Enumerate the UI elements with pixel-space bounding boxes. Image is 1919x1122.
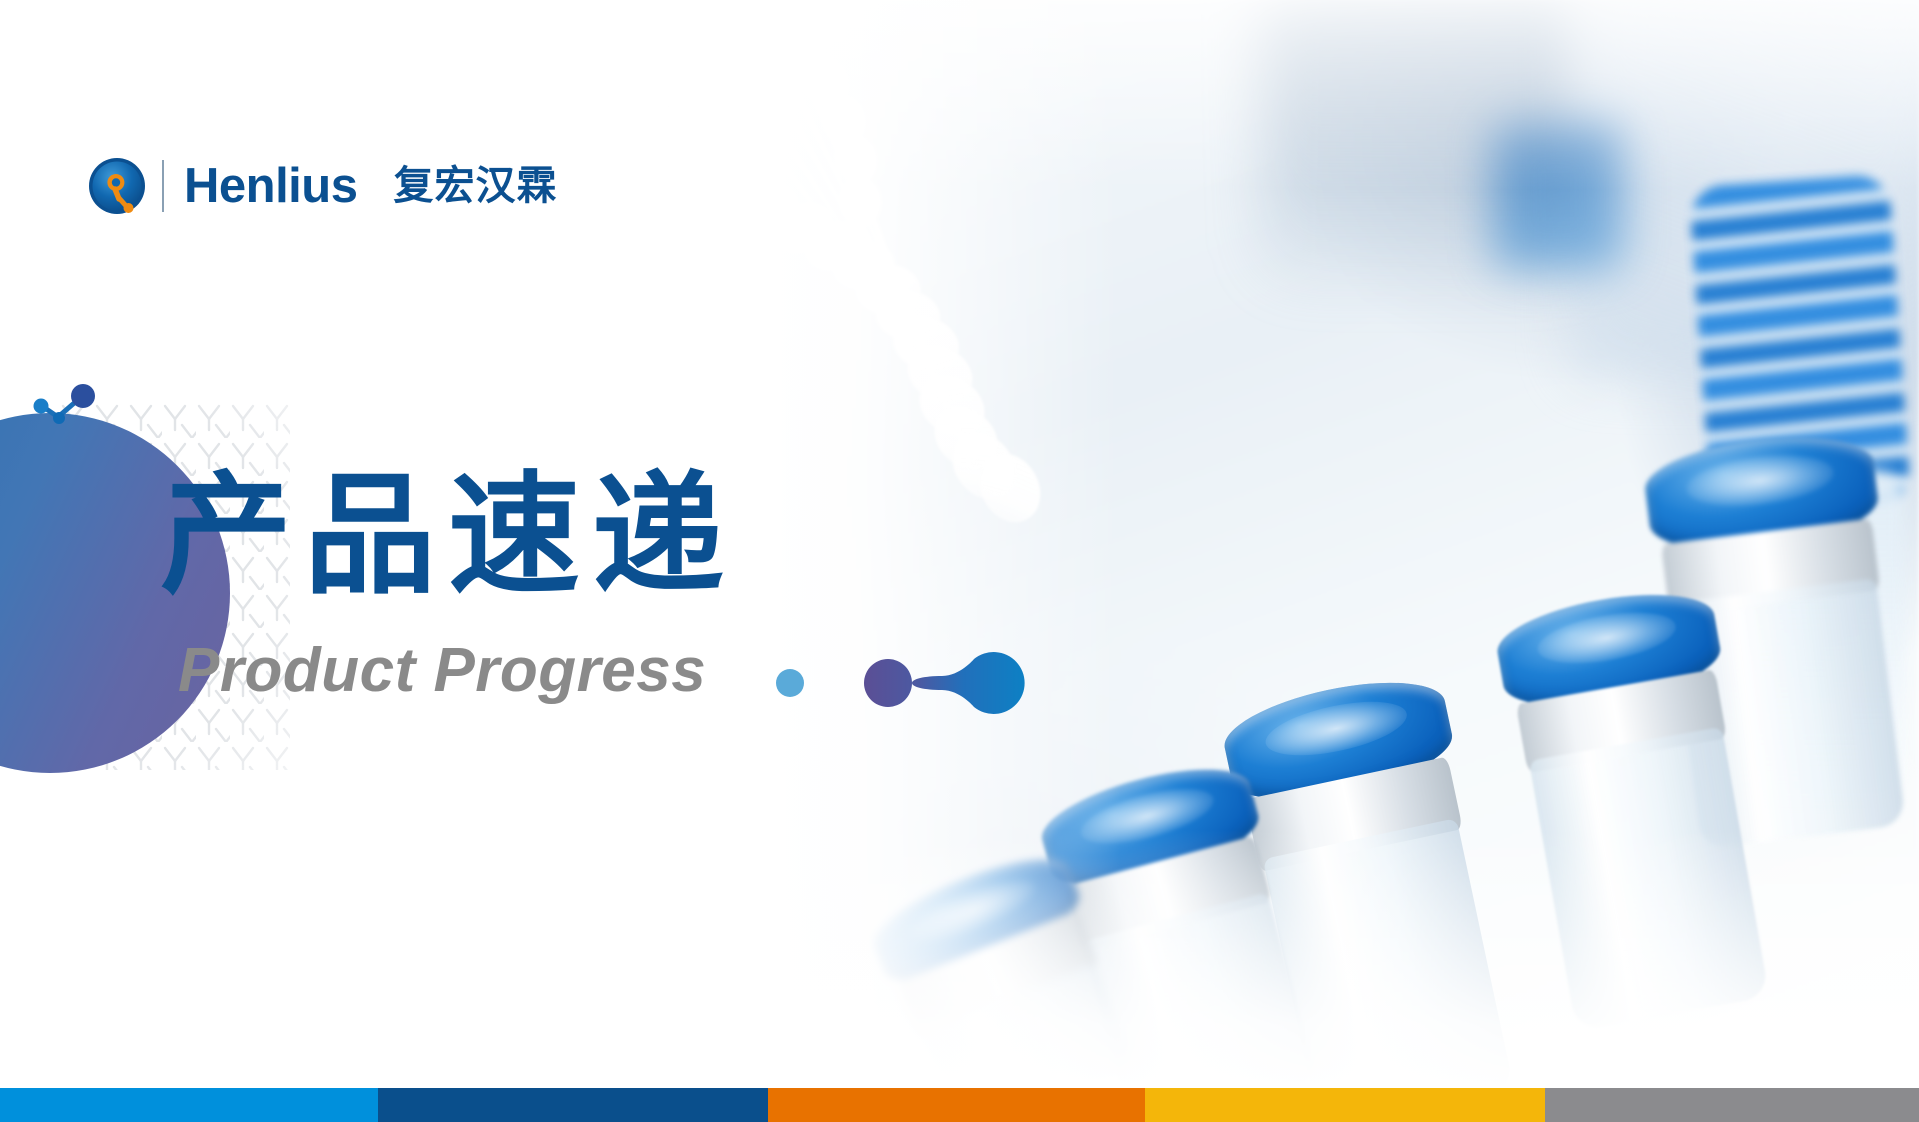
photo-fade-bottom — [760, 830, 1919, 1090]
logo-wordmark: Henlius — [184, 162, 357, 211]
bottom-color-bar — [0, 1088, 1919, 1122]
bar-segment-light-blue — [0, 1088, 378, 1122]
page-subtitle-english: Product Progress — [178, 640, 706, 702]
page-title-chinese: 产品速递 — [160, 470, 736, 602]
molecule-cluster-icon — [28, 382, 108, 442]
bar-segment-yellow — [1145, 1088, 1545, 1122]
molecule-dumbbell — [852, 645, 1032, 721]
bar-segment-dark-blue — [378, 1088, 768, 1122]
henlius-logo[interactable]: Henlius 复宏汉霖 — [88, 155, 557, 217]
henlius-molecule-mark-icon — [88, 157, 146, 215]
title-slide: Henlius 复宏汉霖 产品速递 Product Progress — [0, 0, 1919, 1122]
bar-segment-gray — [1545, 1088, 1919, 1122]
bar-segment-orange — [768, 1088, 1145, 1122]
logo-divider — [162, 160, 164, 212]
accent-dot — [776, 669, 804, 697]
logo-chinese-name: 复宏汉霖 — [393, 166, 557, 206]
